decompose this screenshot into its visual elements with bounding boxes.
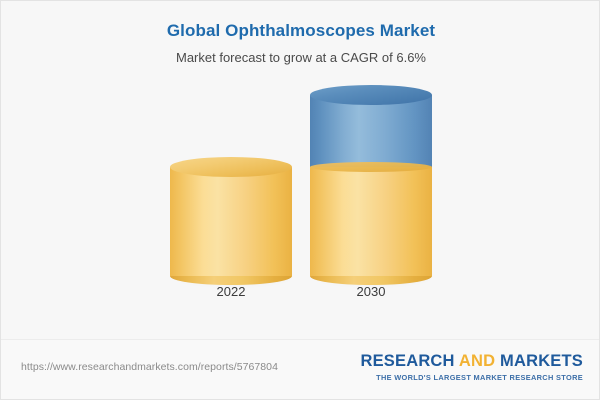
chart-card: Global Ophthalmoscopes Market Market for… xyxy=(0,0,600,400)
brand-word-markets: MARKETS xyxy=(500,352,583,370)
cylinder-segment-seam-2030 xyxy=(310,162,432,172)
cylinder-segment-base-2030 xyxy=(310,167,432,276)
cylinder-2022[interactable] xyxy=(170,167,292,276)
brand-logo-wordmark: RESEARCH AND MARKETS xyxy=(360,352,583,371)
cylinder-body-2030 xyxy=(310,95,432,276)
cylinder-2030[interactable] xyxy=(310,95,432,276)
brand-word-research: RESEARCH xyxy=(360,352,454,370)
category-label-2030: 2030 xyxy=(310,284,432,299)
report-url[interactable]: https://www.researchandmarkets.com/repor… xyxy=(21,361,278,373)
cylinder-body-2022 xyxy=(170,167,292,276)
cylinder-top-lid-2022 xyxy=(170,157,292,177)
cylinder-top-lid-2030 xyxy=(310,85,432,105)
category-label-2022: 2022 xyxy=(170,284,292,299)
chart-footer: https://www.researchandmarkets.com/repor… xyxy=(1,339,600,399)
chart-plot-area: USD 245.2 Million 2022 USD 408.7 Million xyxy=(1,1,600,342)
brand-logo[interactable]: RESEARCH AND MARKETS THE WORLD'S LARGEST… xyxy=(360,352,583,382)
brand-tagline: THE WORLD'S LARGEST MARKET RESEARCH STOR… xyxy=(360,373,583,382)
cylinder-segment-growth-2030 xyxy=(310,95,432,167)
brand-word-and: AND xyxy=(459,352,495,370)
cylinder-segment-base-2022 xyxy=(170,167,292,276)
